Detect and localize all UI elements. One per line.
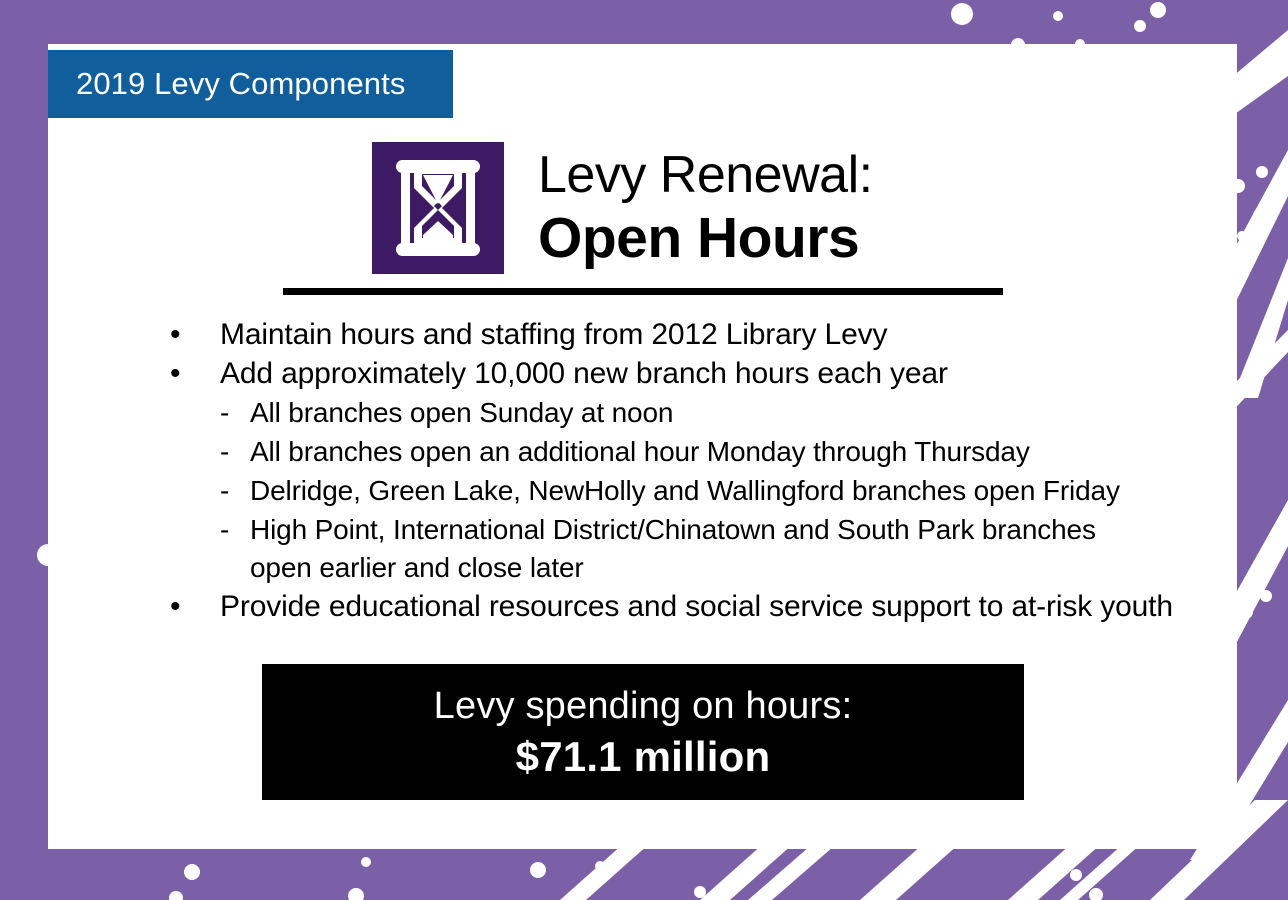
list-item: • Add approximately 10,000 new branch ho…	[158, 355, 1218, 393]
bullet-list: • Maintain hours and staffing from 2012 …	[158, 316, 1218, 627]
content-card: 2019 Levy Components	[48, 44, 1237, 849]
title-block: Levy Renewal: Open Hours	[538, 149, 873, 267]
spending-callout-box: Levy spending on hours: $71.1 million	[262, 664, 1024, 800]
list-item: • Provide educational resources and soci…	[158, 588, 1218, 626]
bullet-text: Maintain hours and staffing from 2012 Li…	[220, 316, 887, 354]
slide-canvas: 2019 Levy Components	[0, 0, 1288, 900]
dash-marker: -	[220, 472, 250, 510]
sub-list-item: - Delridge, Green Lake, NewHolly and Wal…	[220, 472, 1218, 510]
list-item: • Maintain hours and staffing from 2012 …	[158, 316, 1218, 354]
sub-list-item: - All branches open an additional hour M…	[220, 433, 1218, 471]
sub-bullet-text: All branches open Sunday at noon	[250, 394, 673, 432]
bullet-marker: •	[158, 355, 220, 393]
sub-list-item: - All branches open Sunday at noon	[220, 394, 1218, 432]
dash-marker: -	[220, 394, 250, 432]
bullet-marker: •	[158, 588, 220, 626]
section-eyebrow-label: 2019 Levy Components	[48, 66, 405, 102]
dash-marker: -	[220, 433, 250, 471]
sub-bullet-text: High Point, International District/China…	[250, 511, 1150, 587]
title-line-2: Open Hours	[538, 210, 873, 267]
bullet-text: Provide educational resources and social…	[220, 588, 1173, 626]
spending-callout-label: Levy spending on hours:	[434, 683, 853, 729]
title-line-1: Levy Renewal:	[538, 149, 873, 201]
bullet-text: Add approximately 10,000 new branch hour…	[220, 355, 948, 393]
hourglass-icon	[372, 142, 504, 274]
title-row: Levy Renewal: Open Hours	[372, 142, 873, 274]
title-divider-rule	[283, 288, 1003, 295]
bullet-marker: •	[158, 316, 220, 354]
sub-bullet-text: Delridge, Green Lake, NewHolly and Walli…	[250, 472, 1120, 510]
sub-bullet-text: All branches open an additional hour Mon…	[250, 433, 1030, 471]
sub-list-item: - High Point, International District/Chi…	[220, 511, 1218, 587]
section-eyebrow-banner: 2019 Levy Components	[48, 50, 453, 118]
spending-callout-amount: $71.1 million	[516, 732, 771, 782]
dash-marker: -	[220, 511, 250, 549]
